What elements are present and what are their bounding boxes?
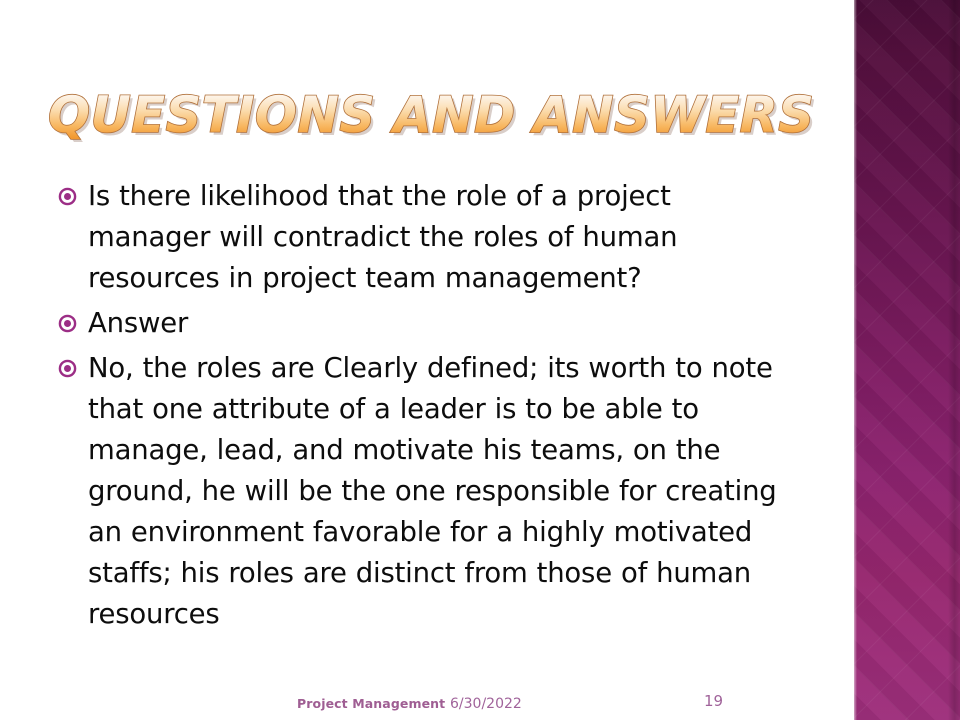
- list-item: No, the roles are Clearly defined; its w…: [58, 348, 838, 635]
- circled-dot-bullet-icon: [58, 348, 88, 378]
- bullet-text-answer-body: No, the roles are Clearly defined; its w…: [88, 348, 818, 635]
- footer-company-name: Project Management: [297, 696, 445, 711]
- title-text: QUESTIONS AND ANSWERS: [48, 86, 814, 144]
- list-item: Answer: [58, 303, 838, 344]
- circled-dot-bullet-icon: [58, 176, 88, 206]
- answer-label-underlined: Answer: [88, 307, 188, 339]
- slide-body-content: Is there likelihood that the role of a p…: [58, 176, 838, 639]
- footer-page-number: 19: [704, 692, 723, 710]
- slide-decorative-side-panel: [854, 0, 960, 720]
- panel-left-highlight: [854, 0, 857, 720]
- bullet-text-question: Is there likelihood that the role of a p…: [88, 176, 788, 299]
- list-item: Is there likelihood that the role of a p…: [58, 176, 838, 299]
- panel-right-shadow: [948, 0, 960, 720]
- bullet-text-answer-label: Answer: [88, 303, 838, 344]
- slide-title: QUESTIONS AND ANSWERS QUESTIONS AND ANSW…: [48, 86, 828, 150]
- presentation-slide: QUESTIONS AND ANSWERS QUESTIONS AND ANSW…: [0, 0, 960, 720]
- circled-dot-bullet-icon: [58, 303, 88, 333]
- footer-date: 6/30/2022: [450, 696, 522, 712]
- diamond-pattern-texture: [854, 0, 960, 720]
